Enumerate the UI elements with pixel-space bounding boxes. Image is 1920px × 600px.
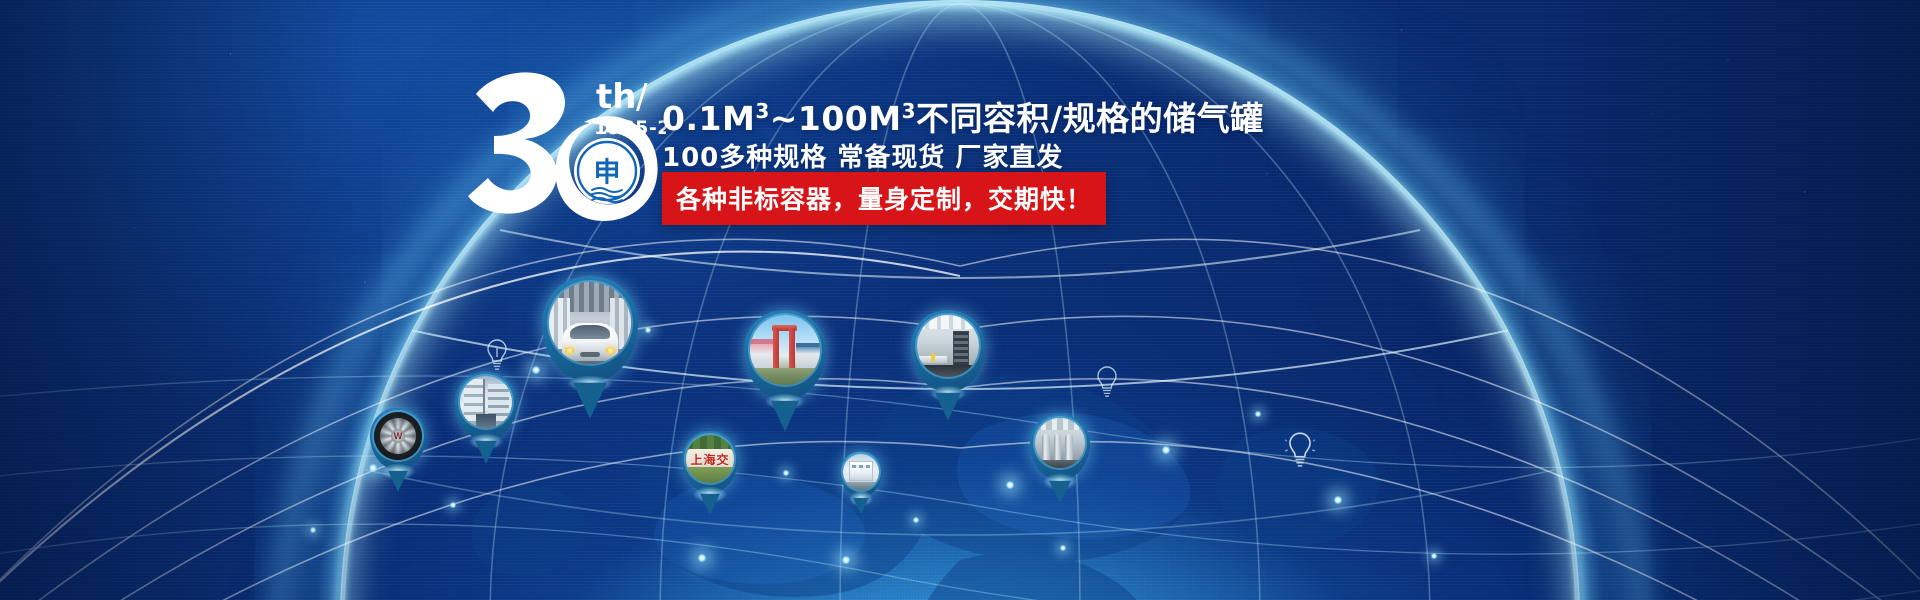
- subheadline-text: 100多种规格 常备现货 厂家直发: [662, 137, 1063, 174]
- headline-sup-1: 3: [755, 99, 769, 123]
- headline-capacity-range: ~100M: [770, 99, 902, 138]
- anniversary-ordinal: th: [596, 77, 636, 117]
- anniversary-logo: 申 th / 1985-2021: [466, 66, 666, 231]
- promo-banner: W: [0, 0, 1920, 600]
- tagline-banner: 各种非标容器，量身定制，交期快！: [662, 172, 1106, 225]
- headline-product: 不同容积/规格的储气罐: [916, 99, 1264, 138]
- banner-content: 申 th / 1985-2021 0.1M3~100M3不同容积/规格的储气罐 …: [0, 0, 1920, 600]
- headline-text: 0.1M3~100M3不同容积/规格的储气罐: [662, 92, 1264, 140]
- anniversary-slash: /: [636, 77, 648, 117]
- anniversary-years: 1985-2021: [594, 117, 666, 139]
- anniversary-emblem-character: 申: [594, 158, 621, 189]
- headline-sup-2: 3: [902, 99, 916, 123]
- headline-capacity-min: 0.1M: [662, 99, 755, 138]
